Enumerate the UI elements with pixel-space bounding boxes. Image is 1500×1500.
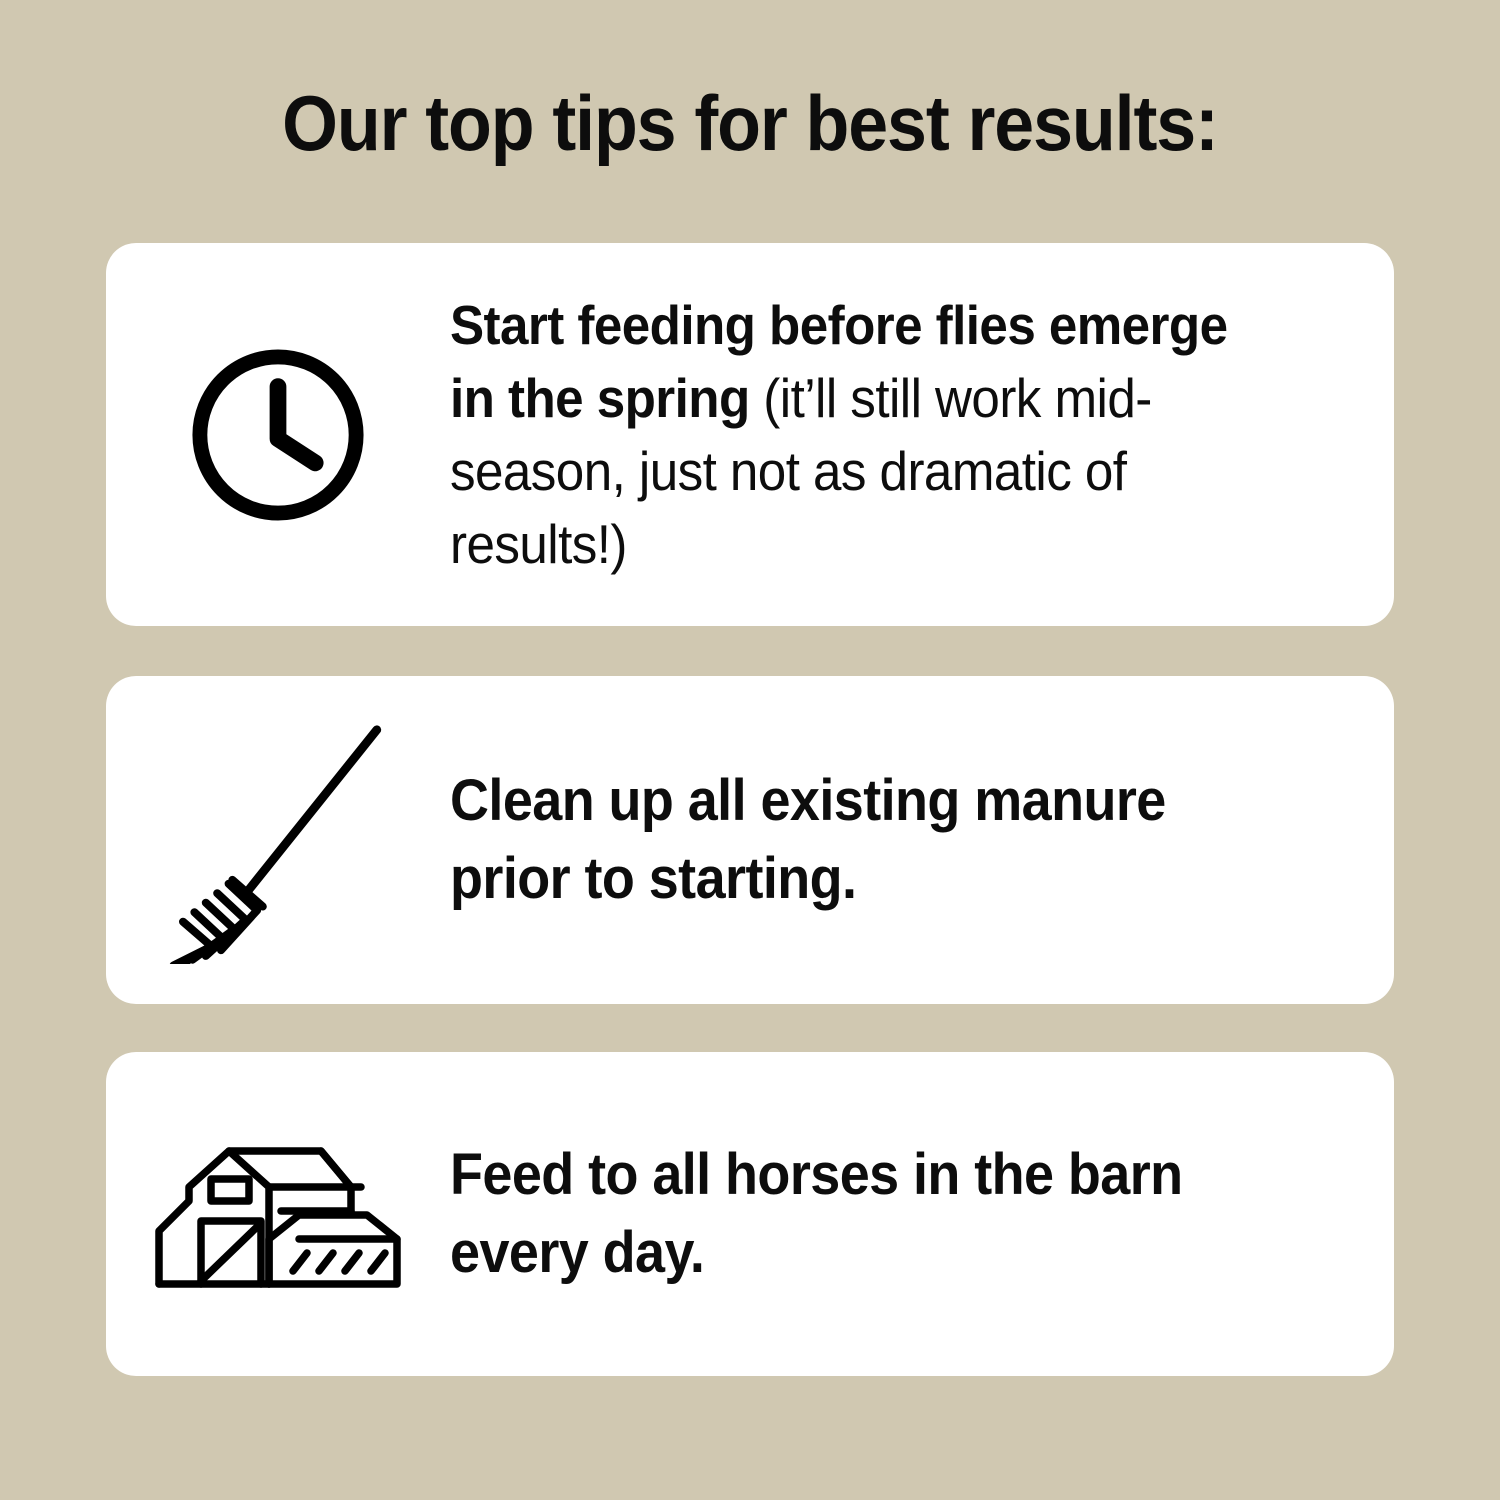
- tip-card-2-bold-text: Clean up all existing manure prior to st…: [450, 768, 1166, 911]
- tip-card-3-icon-container: [106, 1139, 450, 1289]
- tip-card-3-bold-text: Feed to all horses in the barn every day…: [450, 1142, 1183, 1285]
- barn-icon: [151, 1139, 405, 1289]
- tip-card-1-icon-container: [106, 342, 450, 528]
- tip-card-1: Start feeding before flies emerge in the…: [106, 243, 1394, 626]
- tip-card-3-text: Feed to all horses in the barn every day…: [450, 1136, 1328, 1292]
- tip-card-2: Clean up all existing manure prior to st…: [106, 676, 1394, 1004]
- tip-card-3: Feed to all horses in the barn every day…: [106, 1052, 1394, 1376]
- tip-card-2-icon-container: [106, 716, 450, 964]
- page-title: Our top tips for best results:: [60, 78, 1440, 168]
- tip-card-1-text: Start feeding before flies emerge in the…: [450, 289, 1328, 581]
- infographic-page: Our top tips for best results: Start fee…: [0, 0, 1500, 1500]
- clock-icon: [185, 342, 371, 528]
- manure-fork-icon: [164, 716, 392, 964]
- tip-card-2-text: Clean up all existing manure prior to st…: [450, 762, 1328, 918]
